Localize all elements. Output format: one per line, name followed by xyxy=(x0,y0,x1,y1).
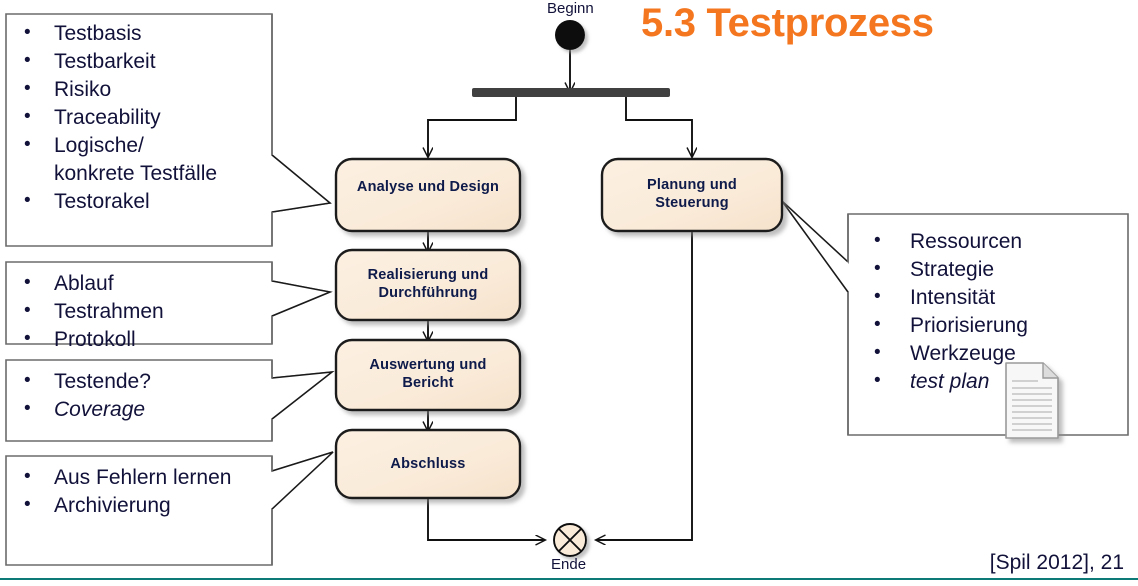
list-item-label: Logische/ xyxy=(54,134,144,157)
list-item: •Protokoll xyxy=(10,326,270,354)
list-item-label: Aus Fehlern lernen xyxy=(54,466,231,489)
list-item-label: Traceability xyxy=(54,106,161,129)
list-item-label: Ablauf xyxy=(54,272,114,295)
bullet-icon: • xyxy=(24,297,31,325)
list-item-label: Testende? xyxy=(54,370,151,393)
list-item: •Testbasis xyxy=(10,20,270,48)
bullet-icon: • xyxy=(24,325,31,353)
bullet-icon: • xyxy=(24,269,31,297)
list-item-label: test plan xyxy=(910,370,989,393)
list-item: •Ressourcen xyxy=(852,228,1122,256)
list-item-label: Protokoll xyxy=(54,328,136,351)
activity-planung[interactable] xyxy=(602,159,782,231)
end-node-label: Ende xyxy=(551,556,586,573)
bottom-accent-rule xyxy=(0,578,1138,580)
list-item-label: Testrahmen xyxy=(54,300,164,323)
bullet-icon: • xyxy=(24,103,31,131)
end-node xyxy=(554,524,586,556)
bullet-icon: • xyxy=(24,19,31,47)
activity-auswertung[interactable] xyxy=(336,340,520,410)
slide-title: 5.3 Testprozess xyxy=(641,1,934,46)
activity-analyse[interactable] xyxy=(336,159,520,231)
bullet-icon: • xyxy=(874,255,881,283)
activity-realisierung[interactable] xyxy=(336,250,520,320)
list-item: •Priorisierung xyxy=(852,312,1122,340)
bullet-icon: • xyxy=(874,227,881,255)
bullet-icon: • xyxy=(24,187,31,215)
bullet-icon: • xyxy=(24,367,31,395)
bullet-icon: • xyxy=(24,491,31,519)
bullet-icon: • xyxy=(24,463,31,491)
list-item: •test plan xyxy=(852,368,1122,396)
list-item-label: Werkzeuge xyxy=(910,342,1016,365)
bullet-icon: • xyxy=(874,339,881,367)
list-item: •Logische/ xyxy=(10,132,270,160)
slide-canvas: 5.3 Testprozess Beginn Ende Analyse und … xyxy=(0,0,1138,586)
note-list: •Testende? •Coverage xyxy=(10,368,270,424)
note-list: •Aus Fehlern lernen •Archivierung xyxy=(10,464,270,520)
bullet-icon: • xyxy=(24,75,31,103)
note-planung-content: •Ressourcen •Strategie •Intensität •Prio… xyxy=(852,228,1122,396)
bullet-icon: • xyxy=(24,395,31,423)
bullet-icon: • xyxy=(874,311,881,339)
list-item: •Werkzeuge xyxy=(852,340,1122,368)
activity-abschluss[interactable] xyxy=(336,430,520,498)
bullet-icon: • xyxy=(874,283,881,311)
list-item: •Risiko xyxy=(10,76,270,104)
note-abschluss-content: •Aus Fehlern lernen •Archivierung xyxy=(10,464,270,520)
list-item-label: Testorakel xyxy=(54,190,150,213)
start-node-label: Beginn xyxy=(547,0,594,17)
source-reference: [Spil 2012], 21 xyxy=(990,551,1124,575)
list-item-label: Risiko xyxy=(54,78,111,101)
list-item-label: Intensität xyxy=(910,286,995,309)
note-list: •Ressourcen •Strategie •Intensität •Prio… xyxy=(852,228,1122,396)
list-item: •Coverage xyxy=(10,396,270,424)
list-item-label: konkrete Testfälle xyxy=(54,162,217,185)
list-item: •Testende? xyxy=(10,368,270,396)
list-item: •Strategie xyxy=(852,256,1122,284)
note-auswertung-content: •Testende? •Coverage xyxy=(10,368,270,424)
list-item: •Aus Fehlern lernen xyxy=(10,464,270,492)
note-list: •Ablauf •Testrahmen •Protokoll xyxy=(10,270,270,354)
list-item: •Testbarkeit xyxy=(10,48,270,76)
list-item: •Traceability xyxy=(10,104,270,132)
note-analyse-content: •Testbasis •Testbarkeit •Risiko •Traceab… xyxy=(10,20,270,216)
list-item: •Intensität xyxy=(852,284,1122,312)
bullet-icon: • xyxy=(24,131,31,159)
list-item-label: Testbasis xyxy=(54,22,142,45)
list-item-label: Priorisierung xyxy=(910,314,1028,337)
list-item: •Ablauf xyxy=(10,270,270,298)
list-item-label: Strategie xyxy=(910,258,994,281)
start-node xyxy=(555,20,585,50)
list-item-label: Testbarkeit xyxy=(54,50,156,73)
list-item: •Archivierung xyxy=(10,492,270,520)
list-item: •Testorakel xyxy=(10,188,270,216)
list-item-label: Coverage xyxy=(54,398,145,421)
note-realisierung-content: •Ablauf •Testrahmen •Protokoll xyxy=(10,270,270,354)
list-item: •Testrahmen xyxy=(10,298,270,326)
bullet-icon: • xyxy=(874,367,881,395)
bullet-icon: • xyxy=(24,47,31,75)
list-item-label: Ressourcen xyxy=(910,230,1022,253)
list-item-label: Archivierung xyxy=(54,494,171,517)
note-list: •Testbasis •Testbarkeit •Risiko •Traceab… xyxy=(10,20,270,216)
list-item-continuation: konkrete Testfälle xyxy=(10,160,270,188)
